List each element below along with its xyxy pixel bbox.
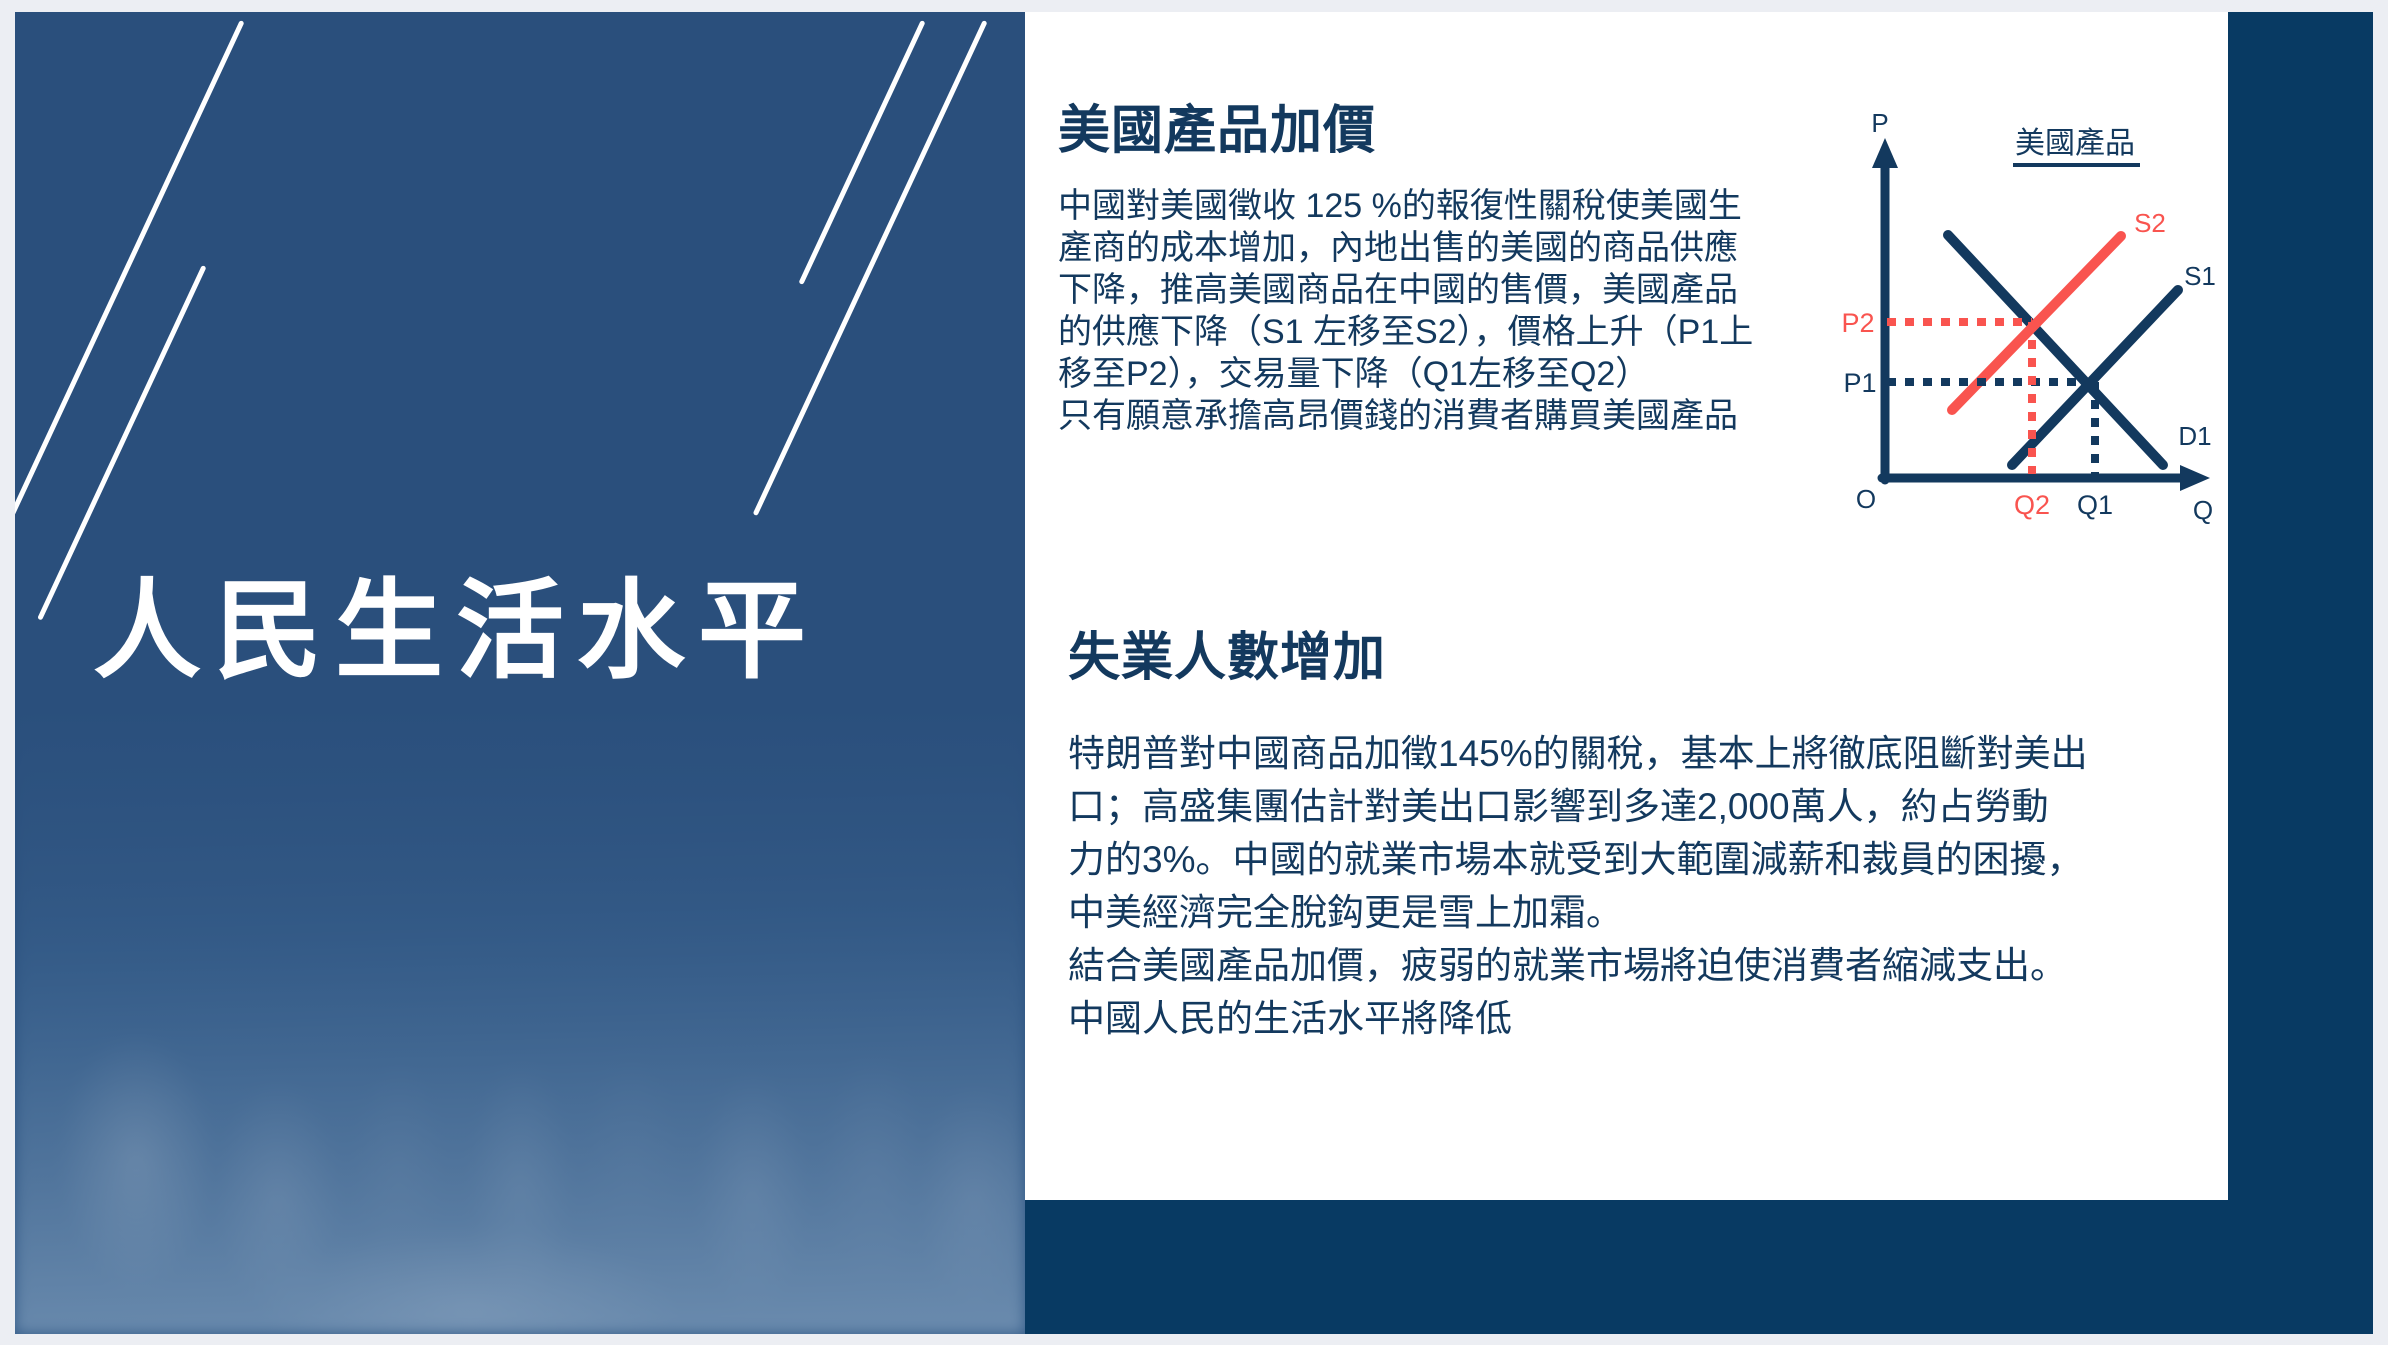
supply-demand-chart: 美國產品 P Q O D1 S1 S2 — [1820, 110, 2220, 530]
diagonal-accent-line-3 — [798, 20, 925, 285]
y-axis-arrowhead — [1872, 138, 1898, 168]
crowd-photo-blue-overlay — [15, 714, 1025, 1334]
slide-canvas: 人民生活水平 美國產品加價 中國對美國徵收 125 %的報復性關稅使美國生 產商… — [0, 0, 2388, 1345]
section1-line: 下降，推高美國商品在中國的售價，美國產品 — [1058, 269, 1793, 311]
curve-label-s2: S2 — [2134, 208, 2166, 238]
axis-label-p: P — [1871, 110, 1888, 138]
supply-demand-svg: 美國產品 P Q O D1 S1 S2 — [1820, 110, 2220, 530]
crowd-photo-background — [15, 714, 1025, 1334]
section1-body: 中國對美國徵收 125 %的報復性關稅使美國生 產商的成本增加，內地出售的美國的… — [1058, 185, 1793, 437]
section1-line: 移至P2），交易量下降（Q1左移至Q2） — [1058, 353, 1793, 395]
section1-line: 只有願意承擔高昂價錢的消費者購買美國產品 — [1058, 395, 1793, 437]
section2-line: 口；高盛集團估計對美出口影響到多達2,000萬人，約占勞動 — [1068, 780, 2198, 833]
curve-label-d1: D1 — [2178, 421, 2211, 451]
price-label-p1: P1 — [1843, 368, 1876, 398]
section2-line: 中美經濟完全脫鈎更是雪上加霜。 — [1068, 886, 2198, 939]
section2-line: 中國人民的生活水平將降低 — [1068, 992, 2198, 1045]
section2-line: 特朗普對中國商品加徵145%的關稅，基本上將徹底阻斷對美出 — [1068, 727, 2198, 780]
diagonal-accent-line-1 — [15, 20, 245, 566]
section2-line: 結合美國產品加價，疲弱的就業市場將迫使消費者縮減支出。 — [1068, 939, 2198, 992]
quantity-label-q1: Q1 — [2077, 490, 2113, 520]
diagonal-accent-line-4 — [753, 20, 988, 516]
page-title: 人民生活水平 — [93, 572, 819, 691]
curve-label-s1: S1 — [2184, 261, 2216, 291]
section1-line: 中國對美國徵收 125 %的報復性關稅使美國生 — [1058, 185, 1793, 227]
left-title-panel: 人民生活水平 — [15, 12, 1025, 1334]
x-axis-arrowhead — [2180, 465, 2210, 491]
section1-line: 的供應下降（S1 左移至S2），價格上升（P1上 — [1058, 311, 1793, 353]
diagonal-accent-line-2 — [37, 265, 206, 621]
section2-heading: 失業人數增加 — [1068, 615, 1386, 690]
chart-title: 美國產品 — [2015, 127, 2135, 160]
demand-curve-d1 — [1948, 235, 2163, 465]
section1-heading: 美國產品加價 — [1058, 88, 1376, 163]
navy-right-bar — [2228, 12, 2373, 1200]
navy-bottom-bar — [1025, 1200, 2373, 1334]
axis-label-q: Q — [2193, 495, 2213, 525]
section1-line: 產商的成本增加，內地出售的美國的商品供應 — [1058, 227, 1793, 269]
quantity-label-q2: Q2 — [2014, 490, 2050, 520]
axis-label-origin: O — [1856, 484, 1876, 514]
section2-line: 力的3%。中國的就業市場本就受到大範圍減薪和裁員的困擾， — [1068, 833, 2198, 886]
price-label-p2: P2 — [1841, 308, 1874, 338]
section2-body: 特朗普對中國商品加徵145%的關稅，基本上將徹底阻斷對美出 口；高盛集團估計對美… — [1068, 727, 2198, 1045]
